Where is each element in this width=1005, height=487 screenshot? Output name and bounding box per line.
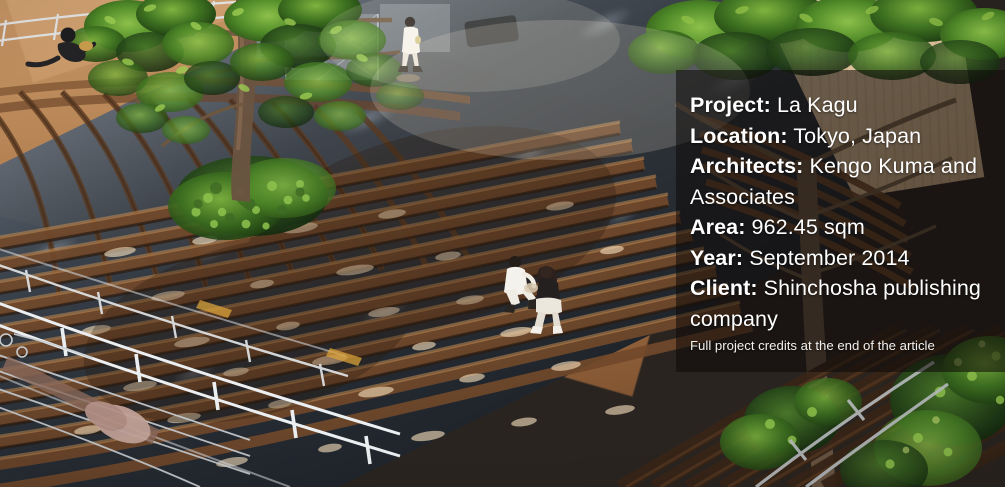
- project-info-overlay: Project: La Kagu Location: Tokyo, Japan …: [676, 70, 1005, 372]
- screenshot-root: Project: La Kagu Location: Tokyo, Japan …: [0, 0, 1005, 487]
- fact-label-year: Year:: [690, 246, 743, 270]
- fact-value-location: Tokyo, Japan: [793, 124, 921, 148]
- fact-label-location: Location:: [690, 124, 788, 148]
- fact-area: Area: 962.45 sqm: [690, 212, 991, 243]
- fact-label-project: Project:: [690, 93, 771, 117]
- fact-value-project: La Kagu: [777, 93, 858, 117]
- fact-year: Year: September 2014: [690, 243, 991, 274]
- fact-label-architects: Architects:: [690, 154, 803, 178]
- fact-label-area: Area:: [690, 215, 745, 239]
- fact-value-area: 962.45 sqm: [752, 215, 865, 239]
- fact-location: Location: Tokyo, Japan: [690, 121, 991, 152]
- full-credits-note: Full project credits at the end of the a…: [690, 337, 935, 354]
- fact-value-year: September 2014: [749, 246, 909, 270]
- fact-project: Project: La Kagu: [690, 90, 991, 121]
- project-fact-list: Project: La Kagu Location: Tokyo, Japan …: [690, 90, 991, 334]
- fact-client: Client: Shinchosha publishing company: [690, 273, 991, 334]
- fact-label-client: Client:: [690, 276, 758, 300]
- fact-architects: Architects: Kengo Kuma and Associates: [690, 151, 991, 212]
